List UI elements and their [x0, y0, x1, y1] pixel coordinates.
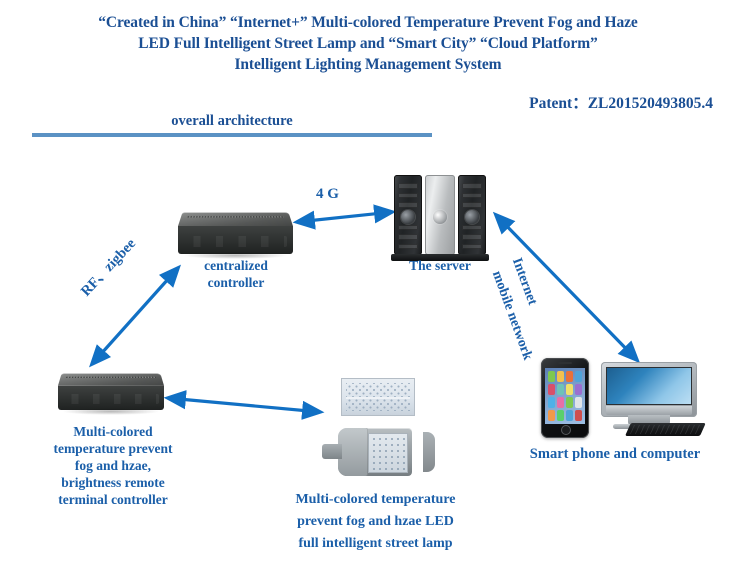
- lamp-tail: [423, 432, 435, 472]
- server-label: The server: [380, 257, 500, 274]
- server-tower-center: [425, 175, 455, 255]
- desktop-computer-icon: [601, 362, 697, 436]
- phone-app-grid: [548, 371, 582, 421]
- centralized-controller-icon: [178, 206, 293, 254]
- lamp-led-array: [368, 433, 408, 473]
- terminal-top-panel: [58, 373, 164, 385]
- phone-home-button: [561, 425, 571, 435]
- terminal-vents: [66, 377, 155, 378]
- controller-vents: [187, 216, 283, 217]
- terminal-controller-label: Multi-colored temperature prevent fog an…: [18, 423, 208, 508]
- smart-phone-and-computer-label: Smart phone and computer: [500, 446, 730, 463]
- terminal-controller-icon: [58, 368, 164, 410]
- server-tower-icon: [394, 175, 486, 255]
- arrow-4g: [297, 212, 392, 222]
- phone-screen: [545, 368, 585, 424]
- keyboard-icon: [625, 423, 705, 436]
- lamp-head: [338, 428, 368, 476]
- controller-top-panel: [178, 212, 293, 226]
- arrow-terminal-to-lamp: [168, 398, 320, 412]
- centralized-controller-label: centralized controller: [175, 257, 297, 291]
- monitor-bezel: [601, 362, 697, 417]
- monitor-screen: [606, 367, 692, 405]
- server-tower-right: [458, 175, 486, 255]
- label-4g: 4 G: [316, 186, 339, 203]
- lamp-mount-arm: [322, 444, 342, 458]
- phone-speaker: [558, 362, 572, 364]
- diagram-canvas: “Created in China” “Internet+” Multi-col…: [0, 0, 736, 565]
- street-lamp-label: Multi-colored temperature prevent fog an…: [258, 489, 493, 555]
- terminal-front-panel: [58, 386, 164, 410]
- monitor-chin: [606, 406, 692, 415]
- server-tower-left: [394, 175, 422, 255]
- led-panel-divider: [346, 397, 410, 399]
- street-lamp-icon: [322, 428, 427, 476]
- led-panel-icon: [341, 378, 415, 416]
- smartphone-icon: [541, 358, 589, 438]
- terminal-shadow: [62, 408, 160, 415]
- controller-front-panel: [178, 226, 293, 254]
